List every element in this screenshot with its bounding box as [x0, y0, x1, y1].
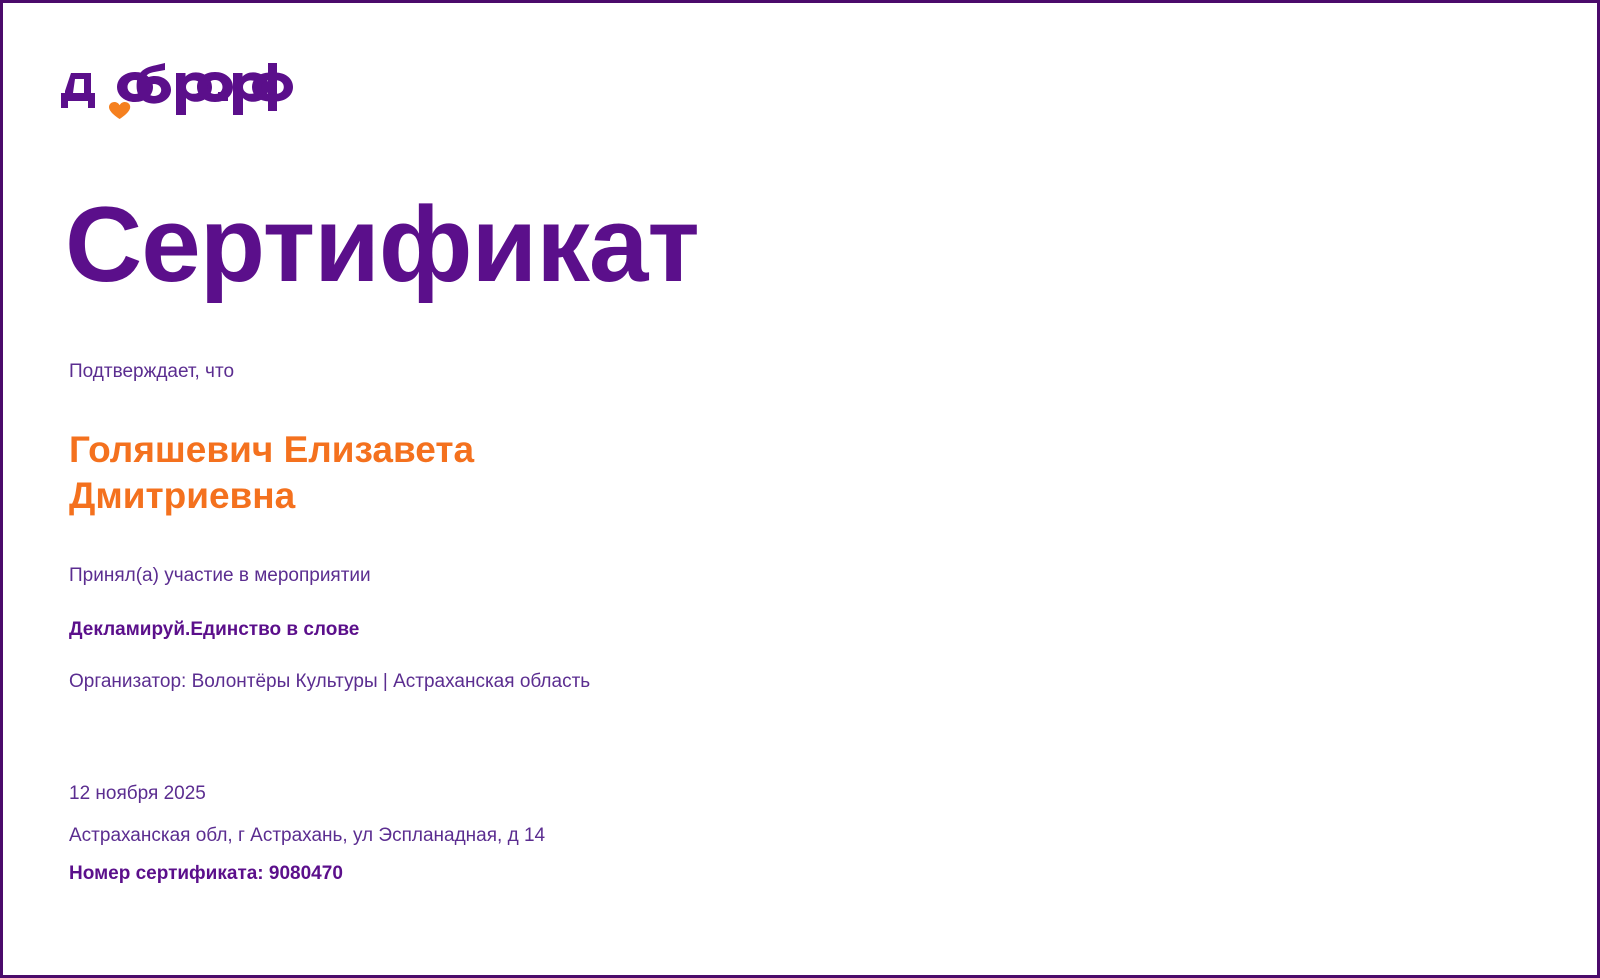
event-name: Декламируй.Единство в слове — [69, 618, 359, 643]
heart-icon — [109, 102, 130, 119]
logo-wordmark — [61, 63, 293, 115]
certificate-footer: 12 ноября 2025 Астраханская обл, г Астра… — [69, 782, 969, 887]
organizer-line: Организатор: Волонтёры Культуры | Астрах… — [69, 670, 590, 695]
confirm-label: Подтверждает, что — [69, 360, 234, 385]
recipient-name: Голяшевич Елизавета Дмитриевна — [69, 427, 709, 520]
certificate-card: Сертификат Подтверждает, что Голяшевич Е… — [0, 0, 1600, 978]
issue-address: Астраханская обл, г Астрахань, ул Эсплан… — [69, 824, 969, 849]
issue-date: 12 ноября 2025 — [69, 782, 969, 807]
dobro-rf-logo[interactable] — [61, 63, 301, 125]
certificate-number: Номер сертификата: 9080470 — [69, 862, 969, 887]
participation-label: Принял(а) участие в мероприятии — [69, 564, 371, 589]
page-title: Сертификат — [65, 191, 699, 298]
